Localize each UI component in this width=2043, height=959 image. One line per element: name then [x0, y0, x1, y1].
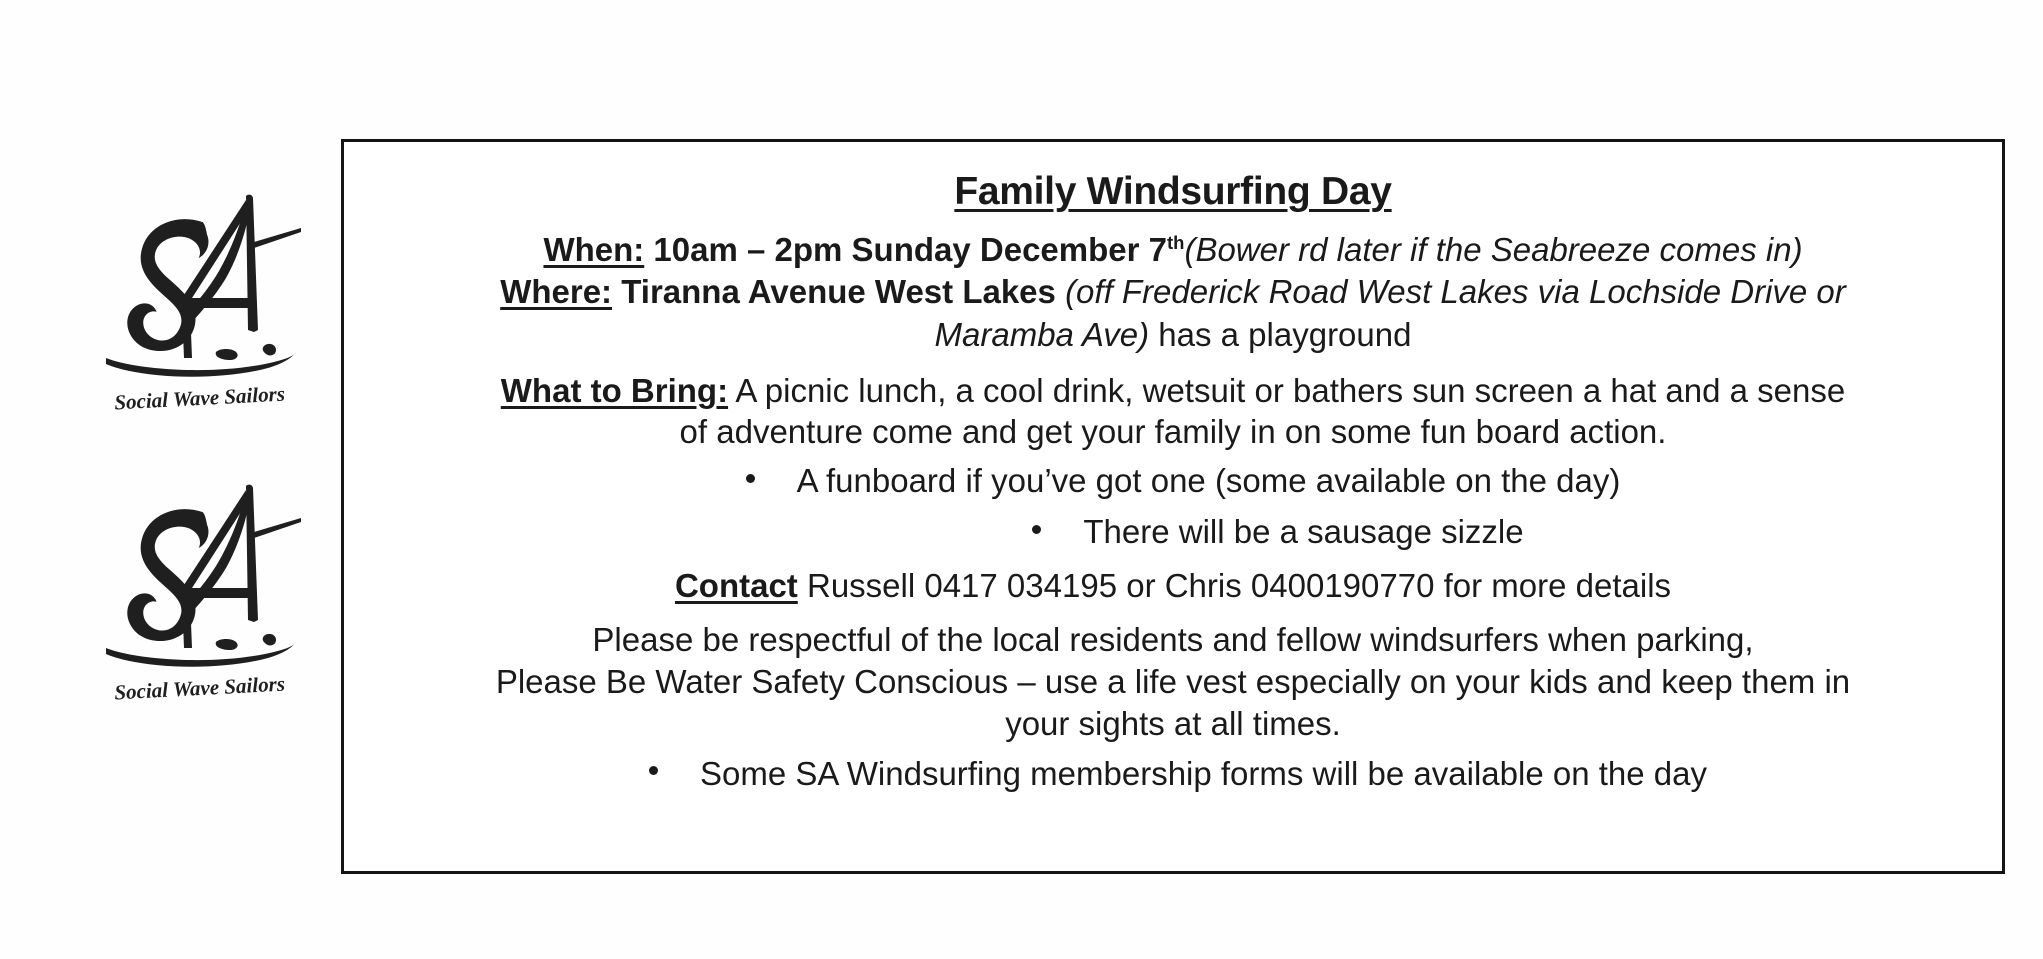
contact-label: Contact [675, 567, 798, 604]
closing-text-2: Please Be Water Safety Conscious – use a… [496, 663, 1850, 700]
when-ordinal: th [1167, 232, 1184, 253]
contact-value: Russell 0417 034195 or Chris 0400190770 … [798, 567, 1671, 604]
logo-tagline-bottom: Social Wave Sailors [114, 672, 286, 705]
closing-text-3: your sights at all times. [1005, 705, 1341, 742]
when-line: When: 10am – 2pm Sunday December 7th(Bow… [366, 230, 1980, 270]
where-note-line2: Maramba Ave) [935, 316, 1150, 353]
logo-column: Social Wave Sailors Social Wave Sailors [96, 180, 336, 745]
closing-text-1: Please be respectful of the local reside… [592, 621, 1753, 658]
bullet-dot-icon [746, 474, 755, 483]
when-note: (Bower rd later if the Seabreeze comes i… [1184, 231, 1802, 268]
list-item: A funboard if you’ve got one (some avail… [366, 460, 1980, 503]
contact-line: Contact Russell 0417 034195 or Chris 040… [366, 566, 1980, 606]
list-item: There will be a sausage sizzle [366, 511, 1980, 554]
bullet-dot-icon [1032, 525, 1041, 534]
what-to-bring-text2: of adventure come and get your family in… [680, 413, 1667, 450]
where-line-2: Maramba Ave) has a playground [366, 315, 1980, 355]
closing-line-3: your sights at all times. [366, 704, 1980, 744]
closing-line-1: Please be respectful of the local reside… [366, 620, 1980, 660]
scanned-page: Social Wave Sailors Social Wave Sailors [0, 0, 2043, 959]
final-bullet-text: Some SA Windsurfing membership forms wil… [700, 755, 1707, 792]
bullet-text-1: A funboard if you’ve got one (some avail… [797, 462, 1621, 499]
what-to-bring-line1: What to Bring: A picnic lunch, a cool dr… [366, 371, 1980, 412]
where-line: Where: Tiranna Avenue West Lakes (off Fr… [366, 272, 1980, 312]
logo-tagline-top: Social Wave Sailors [114, 382, 286, 415]
page-title: Family Windsurfing Day [366, 170, 1980, 214]
what-to-bring-label: What to Bring: [501, 372, 728, 409]
where-note-line1: (off Frederick Road West Lakes via Lochs… [1065, 273, 1846, 310]
closing-line-2: Please Be Water Safety Conscious – use a… [366, 662, 1980, 702]
when-value: 10am – 2pm Sunday December 7 [653, 231, 1167, 268]
list-item: Some SA Windsurfing membership forms wil… [366, 753, 1980, 796]
sa-windsurfing-logo-bottom: Social Wave Sailors [96, 470, 306, 720]
flyer-border-box: Family Windsurfing Day When: 10am – 2pm … [341, 139, 2005, 874]
when-label: When: [543, 231, 644, 268]
sa-logo-icon: Social Wave Sailors [96, 180, 306, 430]
what-to-bring-text1: A picnic lunch, a cool drink, wetsuit or… [728, 372, 1845, 409]
sa-logo-icon: Social Wave Sailors [96, 470, 306, 720]
page-title-text: Family Windsurfing Day [954, 170, 1391, 213]
bullet-text-2: There will be a sausage sizzle [1083, 513, 1523, 550]
where-note-tail: has a playground [1149, 316, 1411, 353]
where-label: Where: [500, 273, 612, 310]
bullet-dot-icon [649, 766, 658, 775]
sa-windsurfing-logo-top: Social Wave Sailors [96, 180, 306, 430]
where-value: Tiranna Avenue West Lakes [621, 273, 1056, 310]
what-to-bring-line2: of adventure come and get your family in… [366, 412, 1980, 452]
